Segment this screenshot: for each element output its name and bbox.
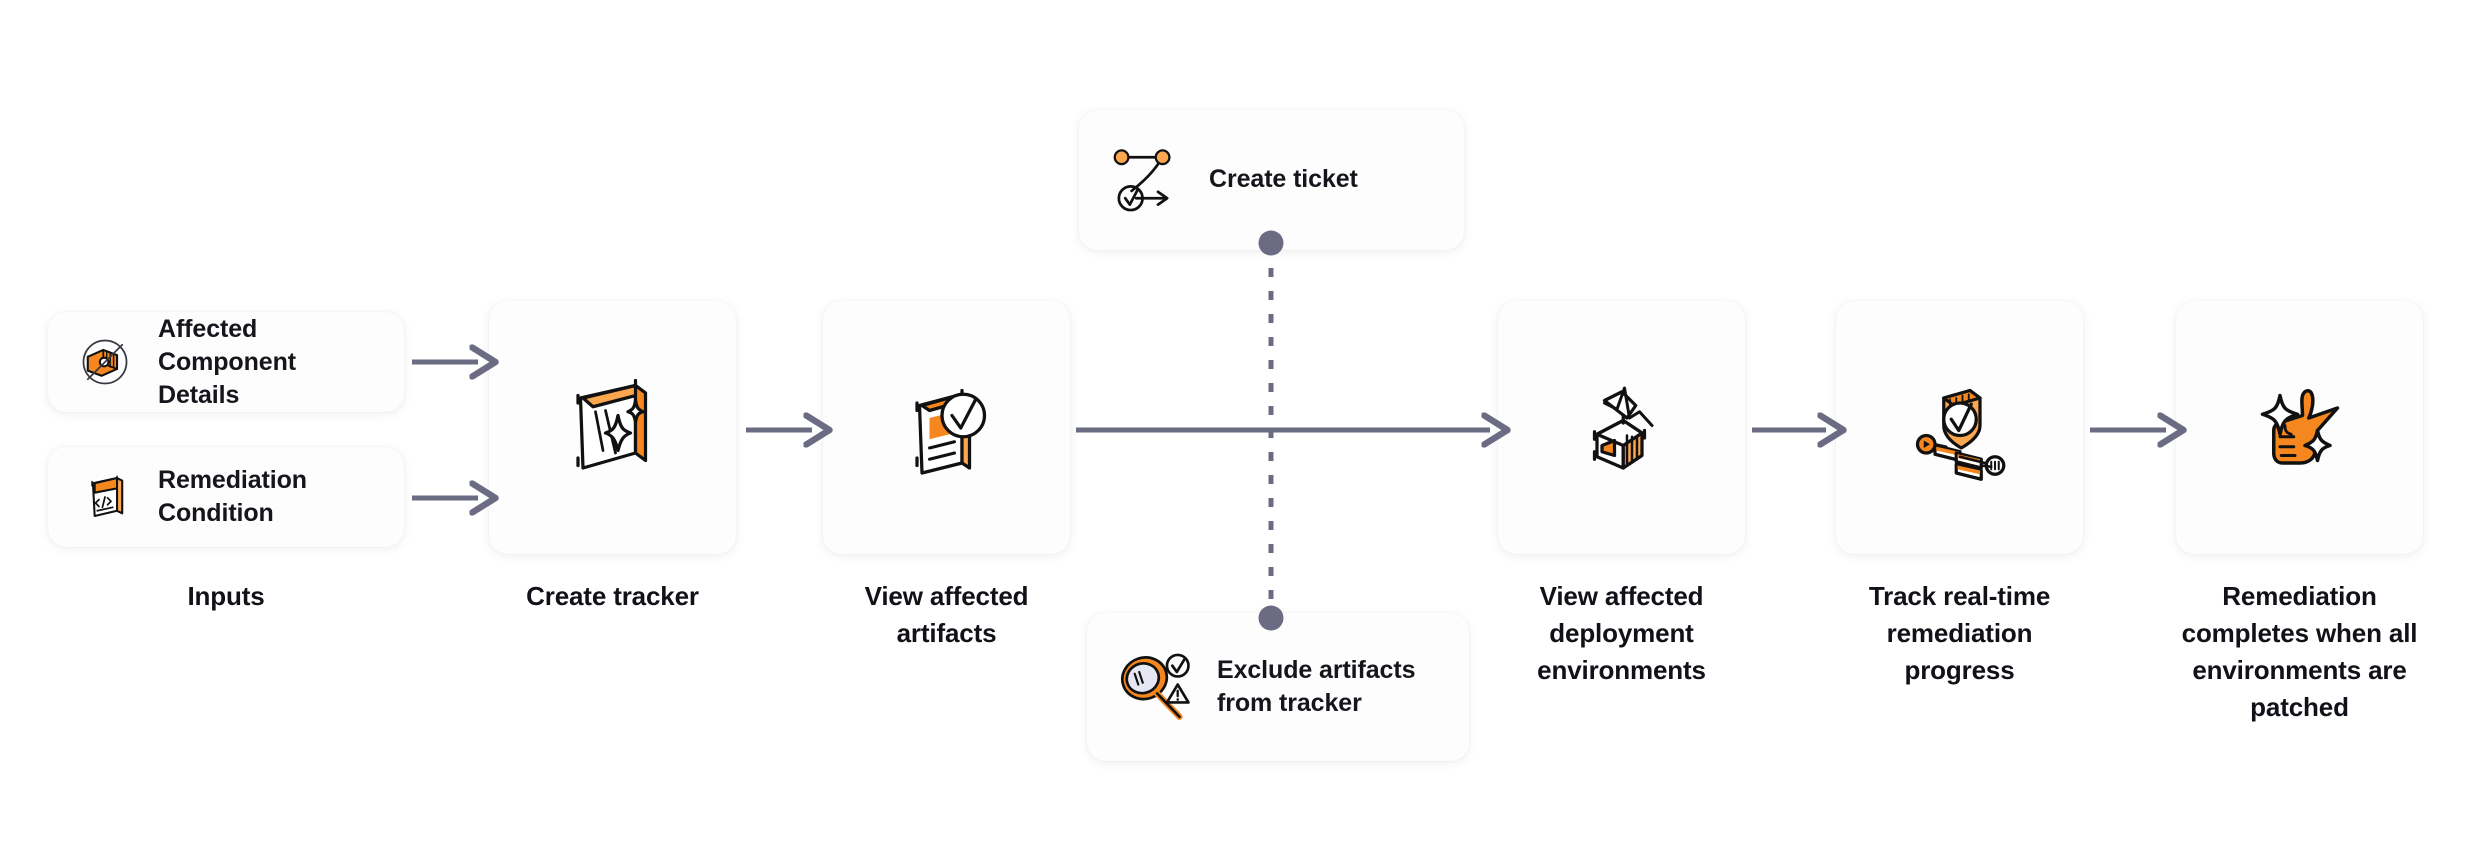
caption-view-affected-environments: View affected deployment environments [1479, 578, 1764, 689]
caption-text: Create tracker [526, 581, 699, 611]
caption-line-4: patched [2250, 692, 2349, 722]
caption-line-1: Track real-time [1869, 581, 2050, 611]
connector-layer [0, 0, 2472, 864]
caption-create-tracker: Create tracker [470, 578, 755, 615]
caption-line-1: View affected [1540, 581, 1704, 611]
branch-dot-top [1259, 231, 1284, 256]
caption-inputs: Inputs [48, 578, 404, 615]
branch-dot-bottom [1259, 606, 1284, 631]
caption-line-1: View affected [865, 581, 1029, 611]
caption-line-2: artifacts [897, 618, 997, 648]
caption-remediation-complete: Remediation completes when all environme… [2157, 578, 2442, 726]
caption-line-3: environments are [2192, 655, 2406, 685]
caption-track-progress: Track real-time remediation progress [1817, 578, 2102, 689]
workflow-diagram: Create ticket Exclude artifacts [0, 0, 2472, 864]
caption-view-affected-artifacts: View affected artifacts [804, 578, 1089, 652]
caption-line-1: Remediation [2222, 581, 2376, 611]
caption-line-2: deployment [1549, 618, 1693, 648]
caption-line-2: remediation [1887, 618, 2033, 648]
caption-text: Inputs [187, 581, 264, 611]
caption-line-3: progress [1904, 655, 2014, 685]
caption-line-3: environments [1537, 655, 1706, 685]
caption-line-2: completes when all [2182, 618, 2418, 648]
